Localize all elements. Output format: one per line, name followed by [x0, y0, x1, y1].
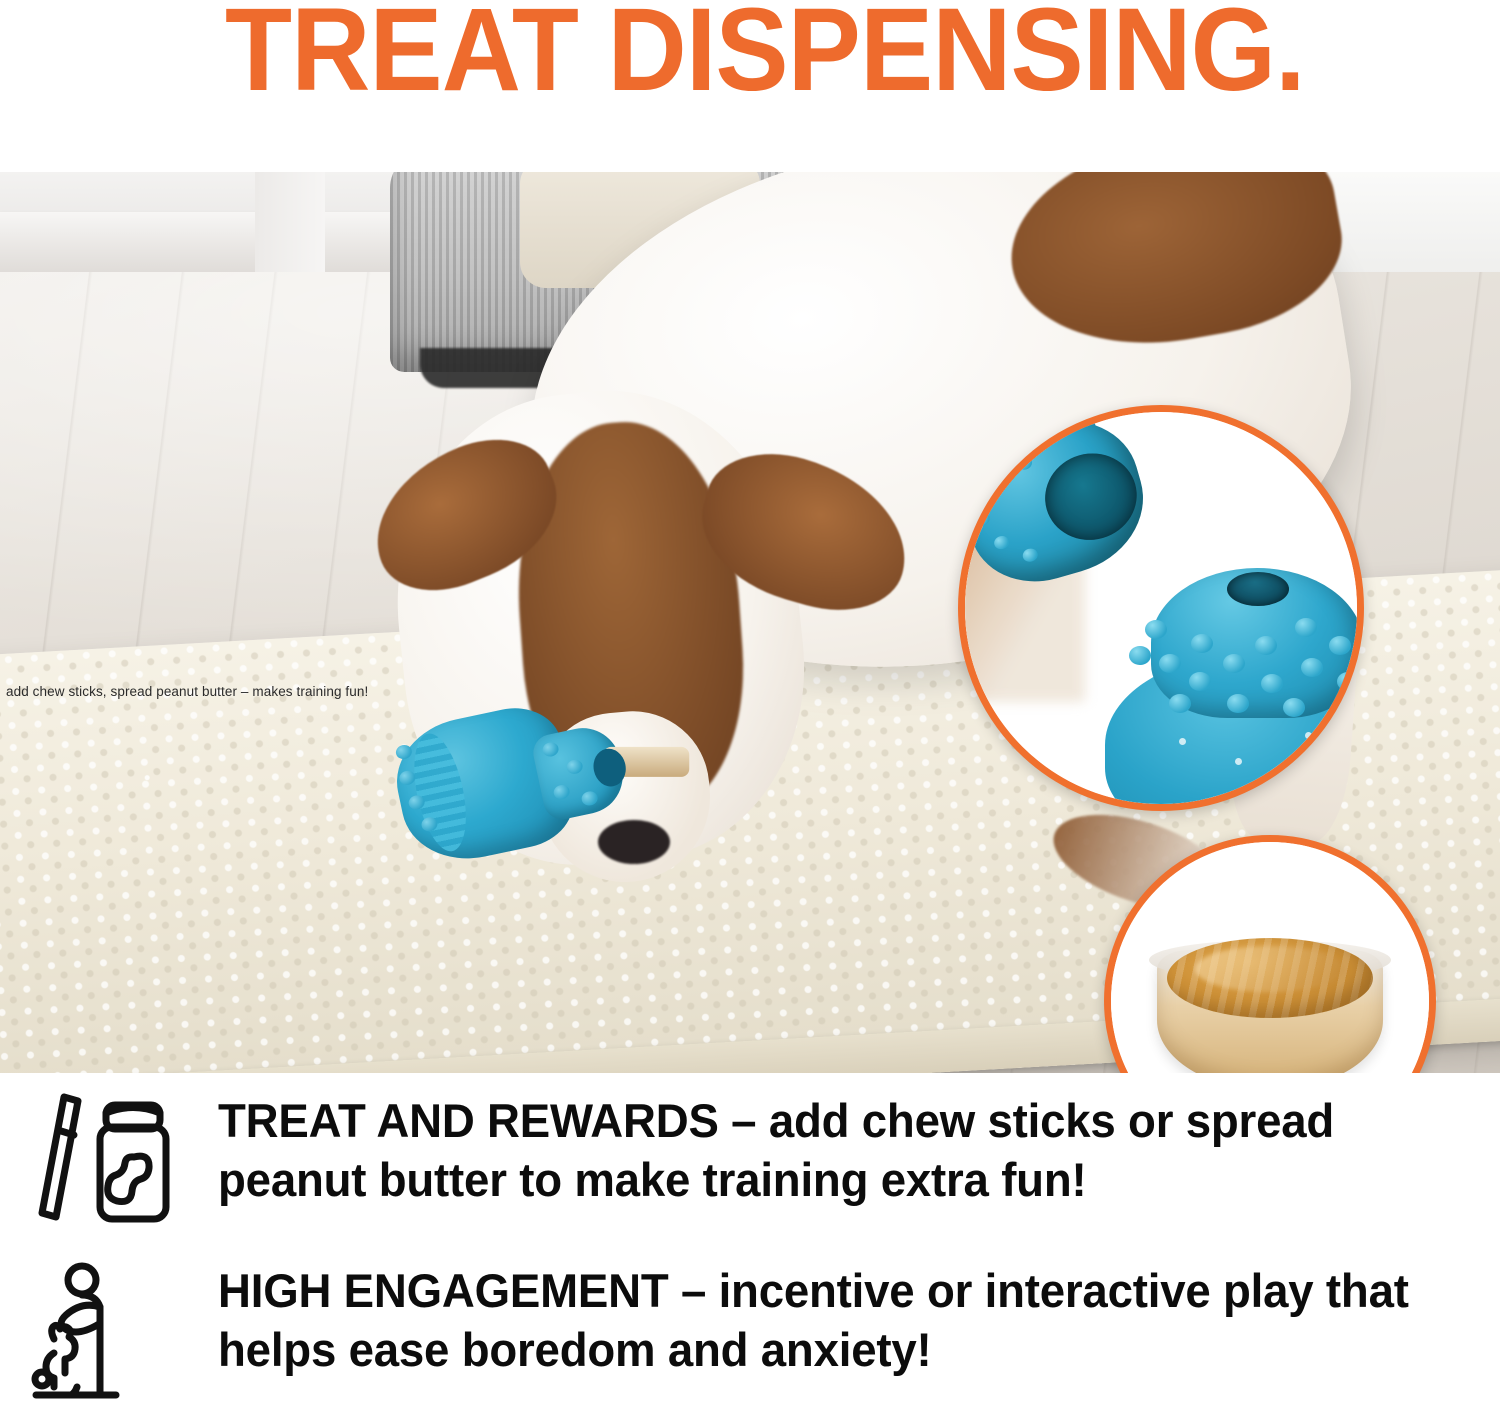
feature-item-high-engagement: HIGH ENGAGEMENT – incentive or interacti… [30, 1261, 1473, 1401]
person-petting-dog-icon [30, 1261, 190, 1401]
inset-product-closeup [958, 405, 1364, 811]
inset-peanut-butter [1104, 835, 1436, 1073]
page-title: TREAT DISPENSING. [225, 0, 1225, 106]
feature-text: HIGH ENGAGEMENT – incentive or interacti… [218, 1261, 1435, 1379]
hero-photo: add chew sticks, spread peanut butter – … [0, 172, 1500, 1073]
toy-top-hole [1227, 572, 1289, 606]
feature-item-treat-and-rewards: TREAT AND REWARDS – add chew sticks or s… [30, 1091, 1473, 1231]
toy-closeup-nubbed-dome [1115, 562, 1364, 811]
photo-caption: add chew sticks, spread peanut butter – … [6, 684, 368, 699]
headline-band: TREAT DISPENSING. [0, 0, 1500, 172]
product-infographic: TREAT DISPENSING. [0, 0, 1500, 1406]
feature-list: TREAT AND REWARDS – add chew sticks or s… [0, 1073, 1500, 1406]
peanut-butter-swirl [1195, 946, 1345, 992]
feature-text: TREAT AND REWARDS – add chew sticks or s… [218, 1091, 1435, 1209]
chew-stick-and-peanut-butter-jar-icon [30, 1091, 190, 1231]
